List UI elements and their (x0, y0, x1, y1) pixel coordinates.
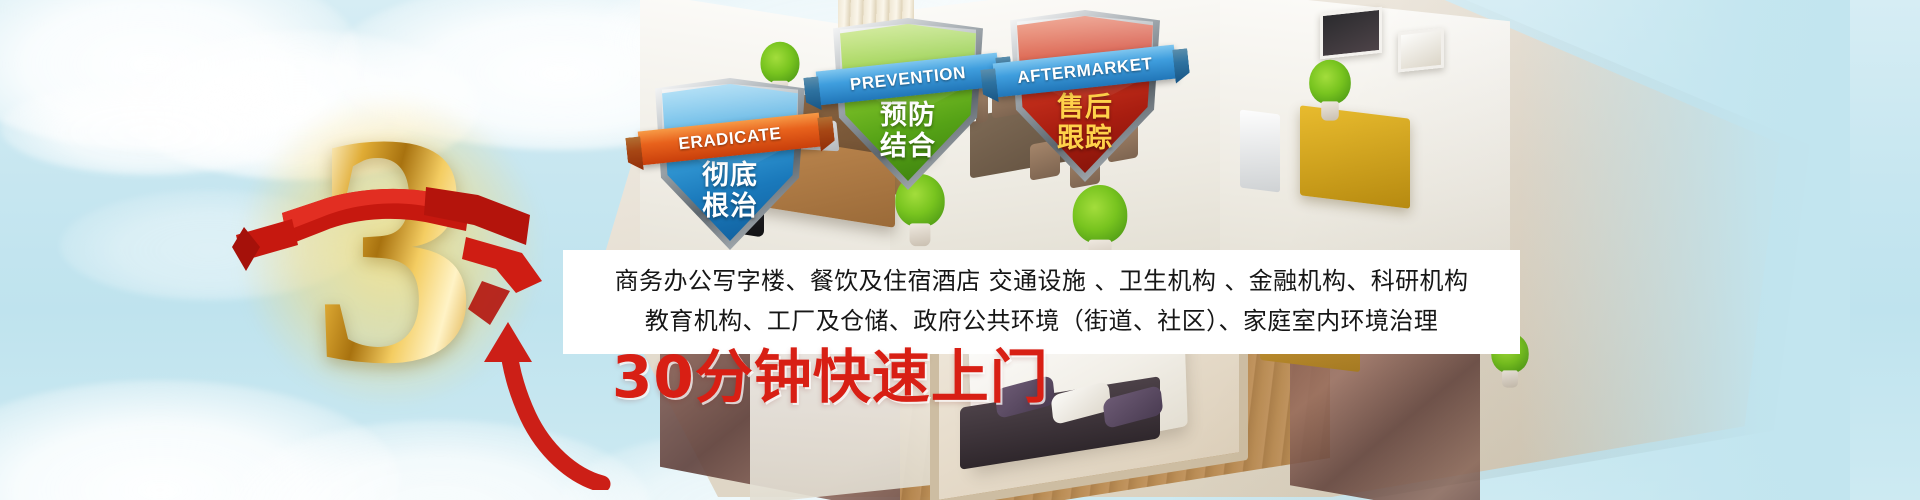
shield-english-label: AFTERMARKET (1016, 54, 1153, 88)
shield-chinese-line1: 预防 (833, 100, 983, 131)
plant-foliage (1073, 185, 1128, 244)
plant-pot (1502, 370, 1518, 387)
badge-prevention: 预防 结合 PREVENTION (833, 18, 983, 190)
promo-banner: 3 彻底 根治 ERADICATE 预防 结合 (0, 0, 1920, 500)
shield-chinese-line2: 跟踪 (1010, 123, 1160, 154)
service-scope-line-1: 商务办公写字楼、餐饮及住宿酒店 交通设施 、卫生机构 、金融机构、科研机构 (563, 261, 1520, 301)
badge-aftermarket: 售后 跟踪 AFTERMARKET (1010, 10, 1160, 182)
plant-foliage (1309, 60, 1351, 105)
badge-eradicate: 彻底 根治 ERADICATE (655, 78, 805, 250)
plant-pot (910, 223, 931, 246)
shield-chinese-text: 售后 跟踪 (1010, 92, 1160, 154)
shield-chinese-text: 彻底 根治 (655, 160, 805, 222)
headline-text: 30分钟快速上门 (612, 346, 1049, 408)
service-scope-line-2: 教育机构、工厂及仓储、政府公共环境（街道、社区）、家庭室内环境治理 (563, 301, 1520, 341)
shield-english-label: PREVENTION (849, 63, 967, 95)
shield-english-label: ERADICATE (678, 124, 783, 155)
shield-chinese-line2: 结合 (833, 131, 983, 162)
scene-fade (1520, 0, 1850, 500)
shield-chinese-text: 预防 结合 (833, 100, 983, 162)
plant-pot (1321, 101, 1339, 120)
range-hood (1240, 110, 1280, 193)
shield-chinese-line1: 彻底 (655, 160, 805, 191)
potted-plant (1306, 60, 1354, 122)
shield-chinese-line2: 根治 (655, 191, 805, 222)
wall-picture-frame (1320, 7, 1382, 60)
shield-chinese-line1: 售后 (1010, 92, 1160, 123)
wall-picture-frame (1398, 28, 1444, 73)
service-scope-panel: 商务办公写字楼、餐饮及住宿酒店 交通设施 、卫生机构 、金融机构、科研机构 教育… (563, 250, 1520, 354)
